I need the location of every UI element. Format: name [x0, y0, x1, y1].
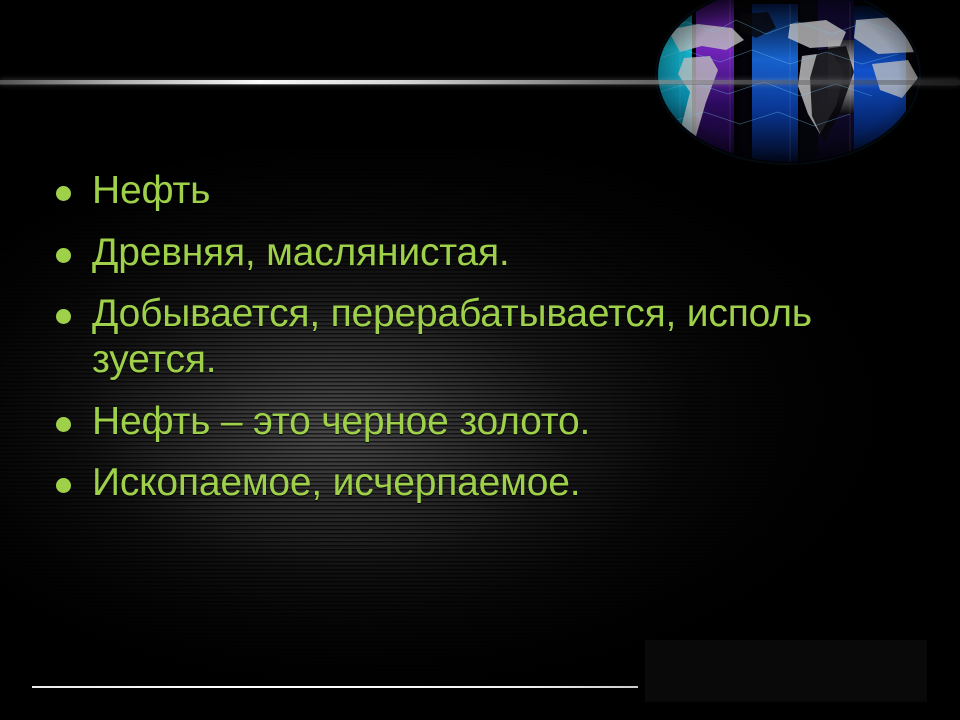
bullet-text: Ископаемое, исчерпаемое. [92, 460, 930, 506]
list-item: Добывается, перерабатывается, исполь зуе… [0, 291, 930, 382]
presentation-slide: Нефть Древняя, маслянистая. Добывается, … [0, 0, 960, 720]
footer-panel [645, 640, 927, 702]
list-item: Древняя, маслянистая. [0, 230, 930, 276]
bullet-dot-icon [56, 248, 71, 263]
globe-decoration [640, 0, 940, 194]
bullet-dot-icon [56, 186, 71, 201]
bullet-dot-icon [56, 309, 71, 324]
list-item: Нефть – это черное золото. [0, 399, 930, 445]
list-item: Нефть [0, 168, 930, 214]
bullet-dot-icon [56, 417, 71, 432]
bullet-text: Добывается, перерабатывается, исполь зуе… [92, 291, 930, 382]
bullet-text: Древняя, маслянистая. [92, 230, 930, 276]
footer-line-shadow [32, 688, 638, 690]
world-map-bands-icon [640, 0, 940, 194]
header-divider-line-shadow [0, 84, 960, 85]
bullet-text: Нефть [92, 168, 930, 214]
footer-divider-line [32, 686, 638, 688]
list-item: Ископаемое, исчерпаемое. [0, 460, 930, 506]
bullet-dot-icon [56, 478, 71, 493]
bullet-list: Нефть Древняя, маслянистая. Добывается, … [0, 168, 930, 506]
bullet-text: Нефть – это черное золото. [92, 399, 930, 445]
slide-body: Нефть Древняя, маслянистая. Добывается, … [0, 168, 930, 506]
